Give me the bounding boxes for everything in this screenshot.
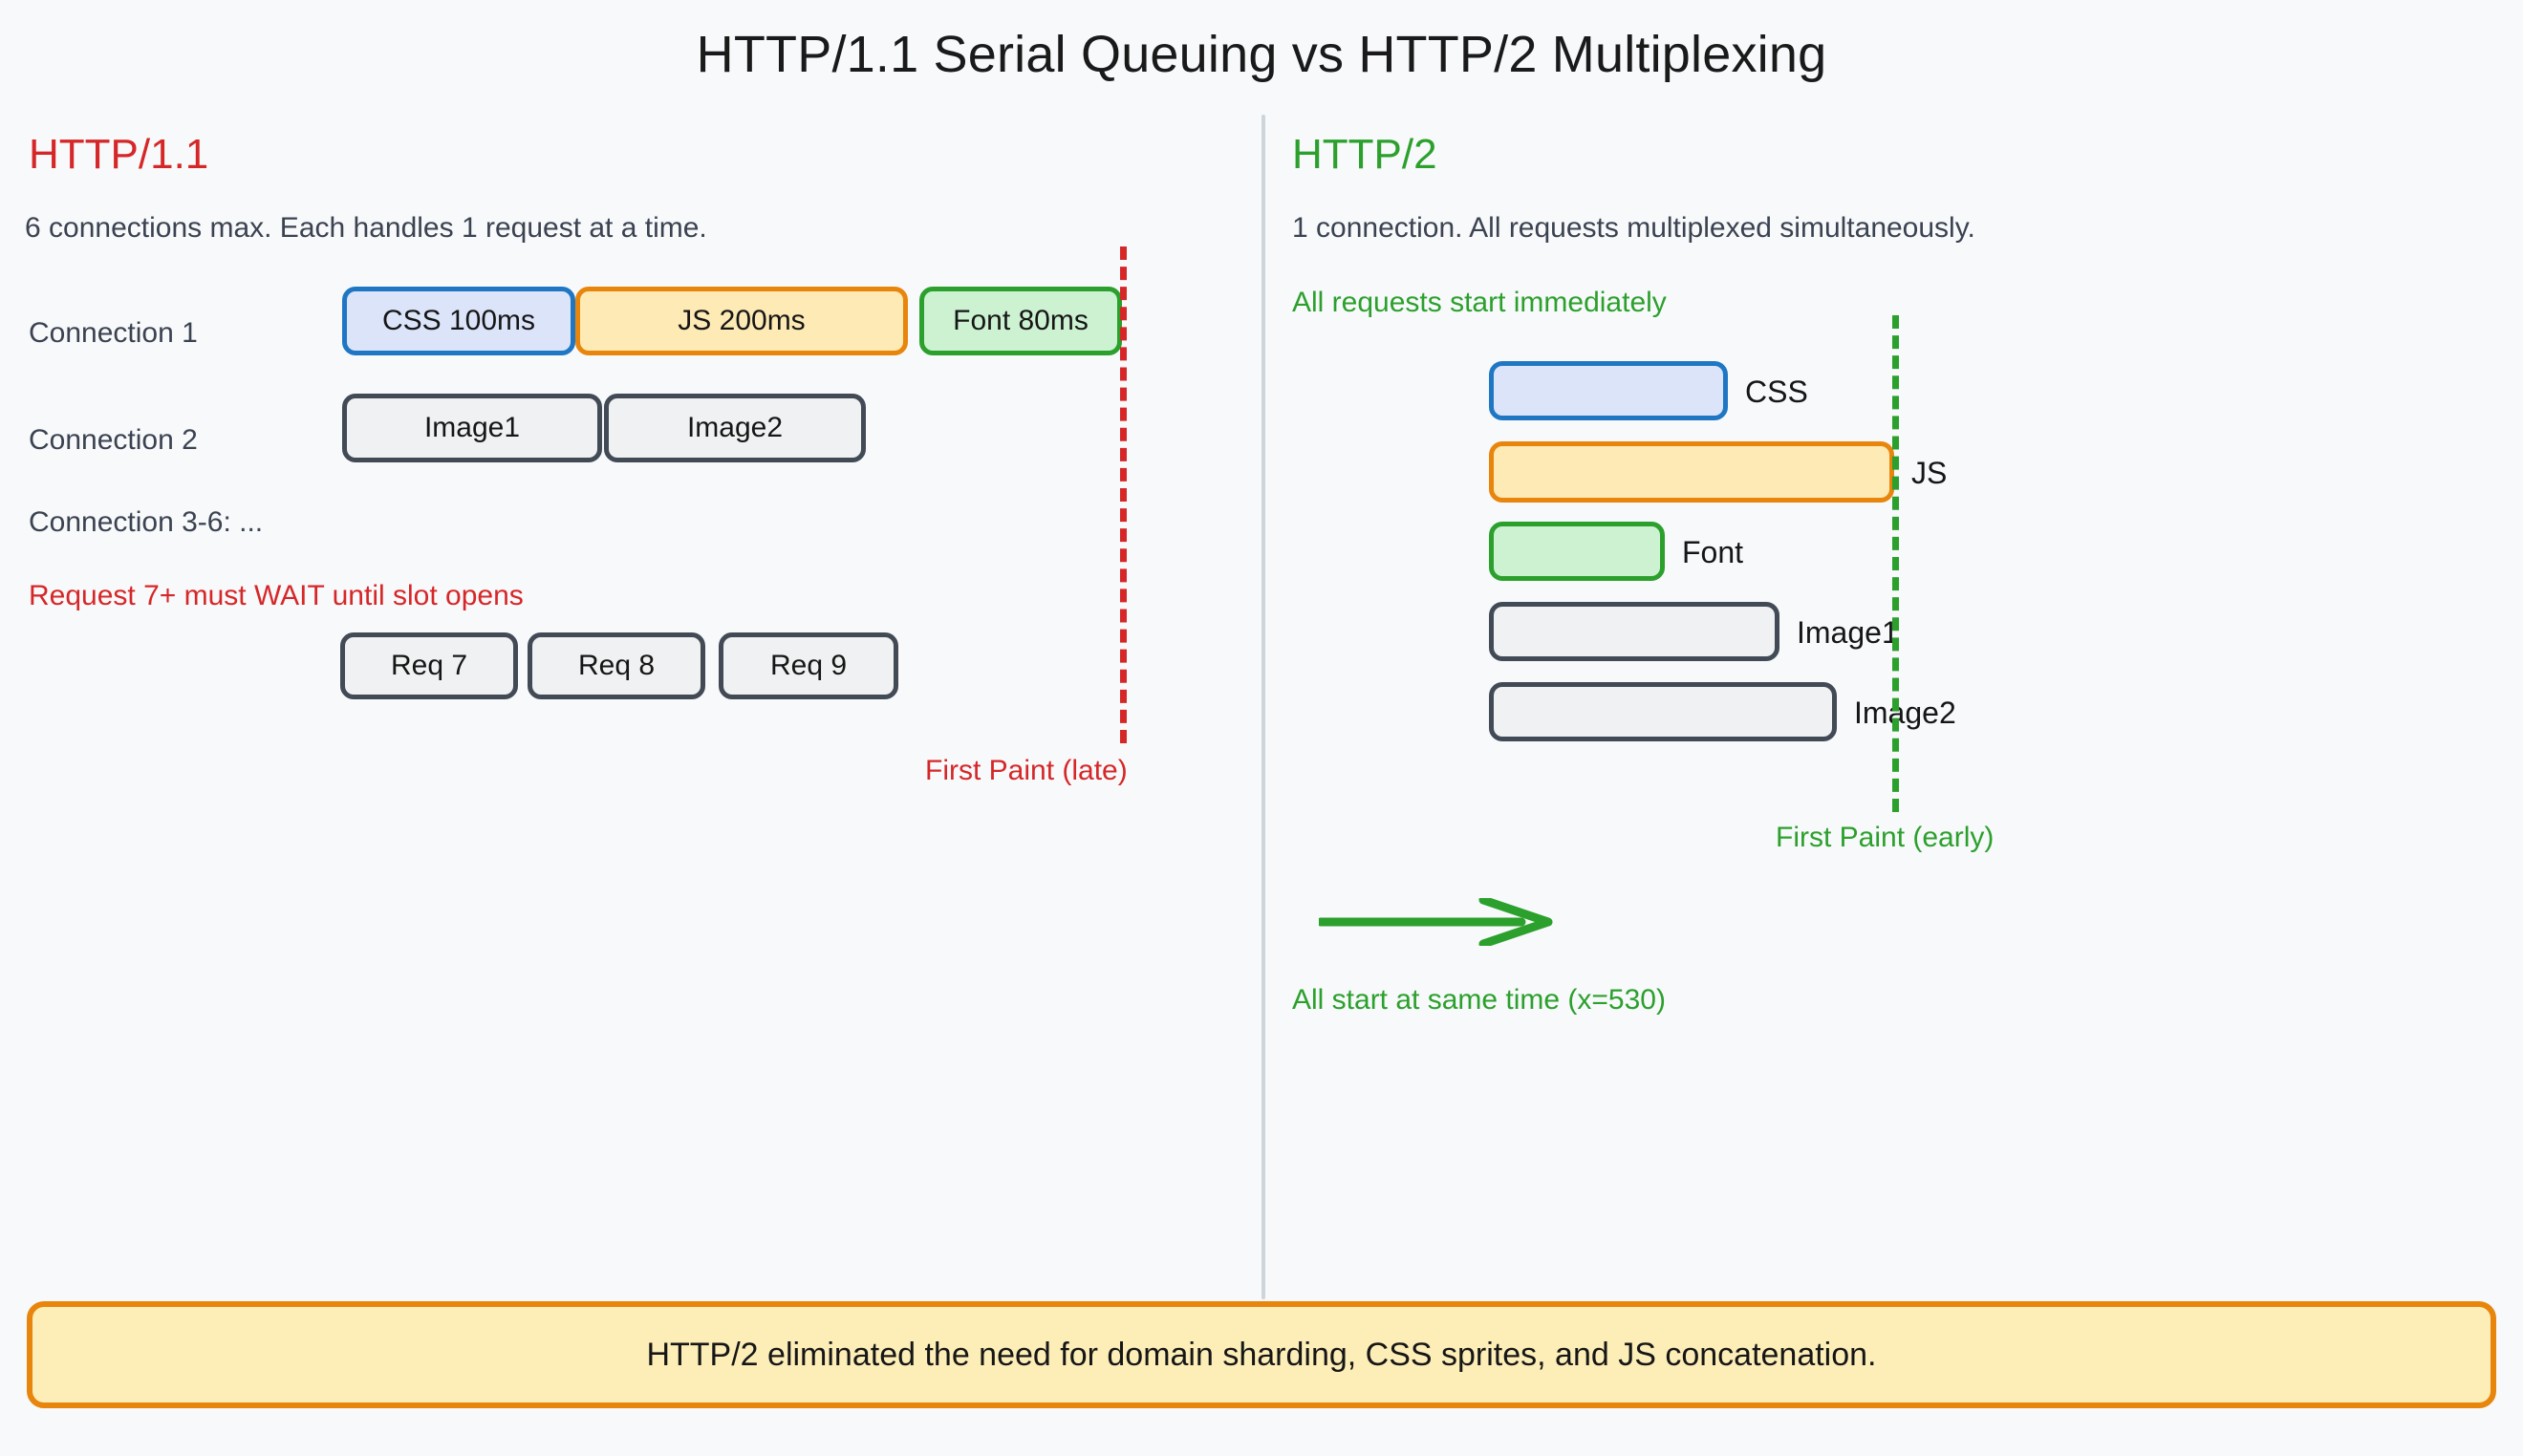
http11-bar-req9: Req 9 bbox=[719, 632, 898, 699]
http11-panel-heading: HTTP/1.1 bbox=[29, 134, 208, 176]
http11-bar-css: CSS 100ms bbox=[342, 287, 575, 355]
http2-label-font: Font bbox=[1682, 535, 1743, 570]
same-time-label: All start at same time (x=530) bbox=[1292, 984, 1666, 1017]
http11-bar-font: Font 80ms bbox=[919, 287, 1122, 355]
http11-bar-image2: Image2 bbox=[604, 394, 866, 462]
panel-divider bbox=[1261, 115, 1265, 1299]
http11-bar-js: JS 200ms bbox=[575, 287, 908, 355]
http2-panel-subtitle: 1 connection. All requests multiplexed s… bbox=[1292, 212, 1975, 245]
http2-label-js: JS bbox=[1911, 456, 1947, 491]
http2-label-image1: Image1 bbox=[1797, 615, 1899, 651]
first-paint-late-marker bbox=[1120, 246, 1127, 743]
first-paint-early-marker bbox=[1892, 315, 1899, 812]
connection-3-6-label: Connection 3-6: ... bbox=[29, 506, 263, 539]
http2-bar-image1 bbox=[1489, 602, 1779, 661]
first-paint-early-label: First Paint (early) bbox=[1776, 822, 1994, 854]
http11-bar-image1: Image1 bbox=[342, 394, 602, 462]
first-paint-late-label: First Paint (late) bbox=[925, 755, 1128, 787]
page-title: HTTP/1.1 Serial Queuing vs HTTP/2 Multip… bbox=[0, 25, 2523, 84]
http2-label-image2: Image2 bbox=[1854, 696, 1956, 731]
http2-bar-font bbox=[1489, 522, 1665, 581]
connection-2-label: Connection 2 bbox=[29, 424, 198, 457]
http2-bar-image2 bbox=[1489, 682, 1837, 741]
http2-label-css: CSS bbox=[1745, 375, 1808, 410]
summary-banner: HTTP/2 eliminated the need for domain sh… bbox=[27, 1301, 2496, 1408]
diagram-canvas: HTTP/1.1 Serial Queuing vs HTTP/2 Multip… bbox=[0, 0, 2523, 1456]
http11-wait-note: Request 7+ must WAIT until slot opens bbox=[29, 580, 524, 612]
same-time-arrow-icon bbox=[1319, 898, 1558, 946]
http11-panel-subtitle: 6 connections max. Each handles 1 reques… bbox=[25, 212, 707, 245]
connection-1-label: Connection 1 bbox=[29, 317, 198, 350]
http11-bar-req7: Req 7 bbox=[340, 632, 518, 699]
http2-bar-js bbox=[1489, 441, 1894, 503]
http2-bar-css bbox=[1489, 361, 1728, 420]
summary-banner-text: HTTP/2 eliminated the need for domain sh… bbox=[646, 1337, 1876, 1374]
http2-start-note: All requests start immediately bbox=[1292, 287, 1667, 319]
http2-panel-heading: HTTP/2 bbox=[1292, 134, 1437, 176]
http11-bar-req8: Req 8 bbox=[528, 632, 705, 699]
